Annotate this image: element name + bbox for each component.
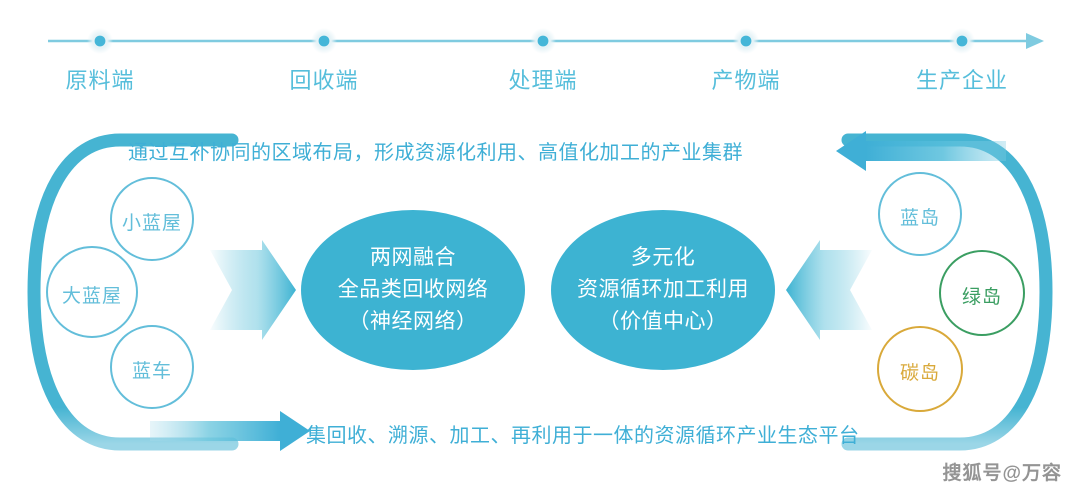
center-label-line3: （价值中心） (548, 306, 778, 338)
center-label-value-center: 多元化 资源循环加工利用 （价值中心） (548, 242, 778, 338)
center-label-line1: 两网融合 (298, 242, 528, 274)
node-label-lanche: 蓝车 (92, 356, 212, 383)
node-label-lvdao: 绿岛 (922, 282, 1042, 309)
node-label-xiaolanwu: 小蓝屋 (92, 208, 212, 235)
center-label-line3: （神经网络） (298, 306, 528, 338)
bottom-banner-text: 集回收、溯源、加工、再利用于一体的资源循环产业生态平台 (306, 419, 860, 448)
top-banner-text: 通过互补协同的区域布局，形成资源化利用、高值化加工的产业集群 (128, 136, 743, 165)
node-label-landao: 蓝岛 (860, 203, 980, 230)
center-label-recycling-network: 两网融合 全品类回收网络 （神经网络） (298, 242, 528, 338)
watermark: 搜狐号@万容 (942, 458, 1062, 485)
center-label-line1: 多元化 (548, 242, 778, 274)
outflow-arrow (786, 240, 872, 340)
node-label-dalanwu: 大蓝屋 (32, 281, 152, 308)
diagram-canvas: 原料端 回收端 处理端 产物端 生产企业 (0, 0, 1080, 495)
center-label-line2: 资源循环加工利用 (548, 274, 778, 306)
center-label-line2: 全品类回收网络 (298, 274, 528, 306)
node-label-tandao: 碳岛 (860, 358, 980, 385)
inflow-arrow (210, 240, 296, 340)
